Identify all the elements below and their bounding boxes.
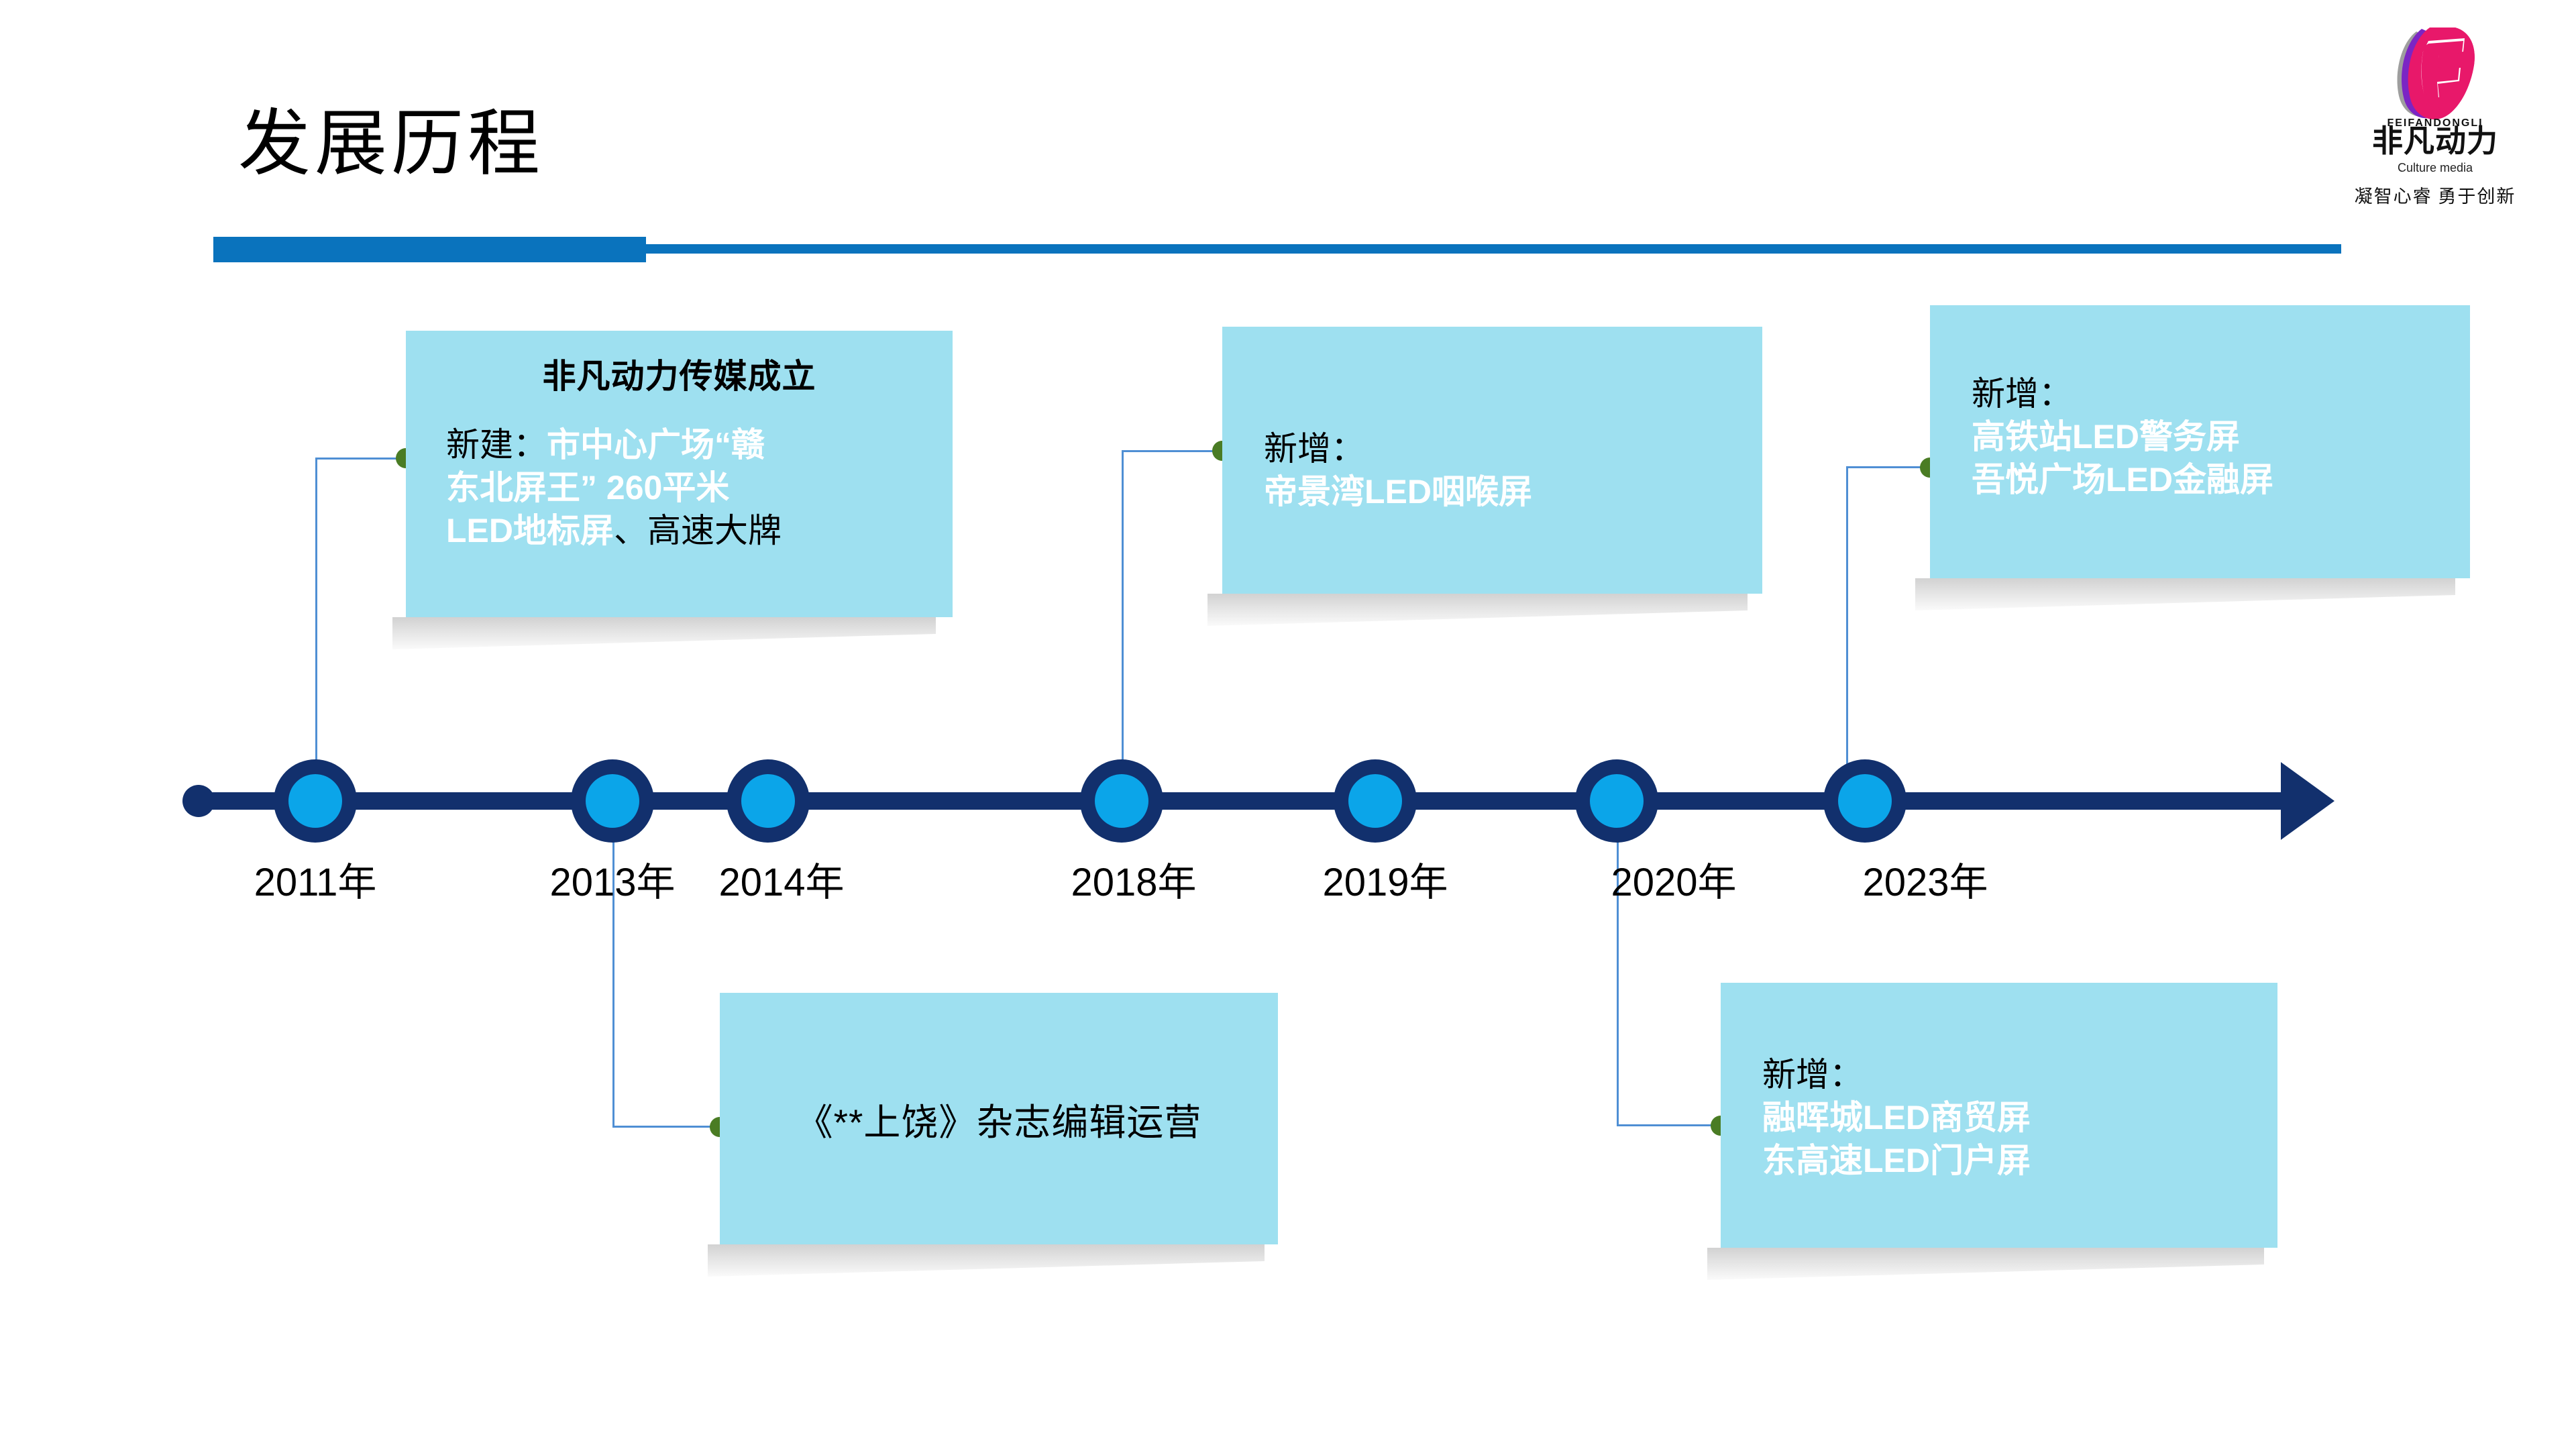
connector-2018-vertical [1122,450,1124,767]
card-2011-tail: 、高速大牌 [614,512,782,549]
timeline-node-2011[interactable] [274,759,357,843]
timeline-node-2013[interactable] [571,759,654,843]
node-inner-2014 [741,774,795,828]
node-inner-2018 [1095,774,1148,828]
year-label-2014: 2014年 [718,851,844,907]
year-label-2023: 2023年 [1862,851,1988,907]
year-label-2019: 2019年 [1322,851,1448,907]
connector-2018-horizontal [1122,450,1222,452]
connector-2011-vertical [315,458,317,766]
card-shadow-2011 [392,617,936,649]
card-2011-hl1: 市中心广场“赣 [547,426,765,464]
card-2023-lead: 新增： [1972,375,2072,413]
company-logo: FEIFANDONGLI 非凡动力 Culture media 凝智心睿 勇于创… [2341,23,2529,225]
card-2011-title: 非凡动力传媒成立 [406,356,953,396]
title-underline-thick [213,237,646,262]
card-2018-body: 新增： 帝景湾LED咽喉屏 [1264,427,1762,513]
connector-2023-vertical [1846,466,1848,767]
page-title: 发展历程 [238,104,544,184]
logo-subtitle: Culture media [2341,161,2529,175]
card-2018[interactable]: 新增： 帝景湾LED咽喉屏 [1222,327,1762,594]
card-2018-lead: 新增： [1264,430,1364,468]
card-2011[interactable]: 非凡动力传媒成立 新建：市中心广场“赣 东北屏王” 260平米 LED地标屏、高… [406,331,953,617]
connector-2013-horizontal [612,1126,720,1128]
card-2020-body: 新增： 融晖城LED商贸屏 东高速LED门户屏 [1762,1053,2277,1182]
card-2011-body: 新建：市中心广场“赣 东北屏王” 260平米 LED地标屏、高速大牌 [446,423,953,552]
card-2018-hl1: 帝景湾LED咽喉屏 [1264,473,1532,511]
card-2013[interactable]: 《**上饶》杂志编辑运营 [720,993,1278,1244]
logo-cn-text: 非凡动力 [2341,125,2529,156]
card-shadow-2013 [708,1244,1265,1277]
card-2023-hl2: 吾悦广场LED金融屏 [1972,461,2273,498]
card-shadow-2018 [1207,594,1748,626]
node-inner-2020 [1590,774,1644,828]
node-inner-2019 [1348,774,1402,828]
card-2013-text: 《**上饶》杂志编辑运营 [796,1092,1202,1146]
connector-2023-horizontal [1846,466,1930,468]
year-label-2013: 2013年 [549,851,675,907]
slide-canvas: 发展历程 FEIFANDONGLI 非凡动力 Culture media 凝智心… [0,0,2576,1449]
card-shadow-2020 [1707,1248,2264,1280]
card-2020-hl1: 融晖城LED商贸屏 [1762,1099,2031,1136]
card-2011-lead: 新建： [446,426,547,464]
timeline-arrow-head [2281,762,2334,840]
card-2011-hl3: LED地标屏 [446,512,614,549]
timeline-node-2019[interactable] [1334,759,1417,843]
timeline-node-2023[interactable] [1823,759,1907,843]
timeline-node-2018[interactable] [1080,759,1163,843]
card-2023[interactable]: 新增： 高铁站LED警务屏 吾悦广场LED金融屏 [1930,305,2470,578]
card-2020-lead: 新增： [1762,1056,1863,1093]
year-label-2011: 2011年 [254,851,377,907]
year-label-2018: 2018年 [1071,851,1196,907]
connector-2020-horizontal [1617,1124,1721,1126]
title-underline-thin [644,244,2341,254]
card-shadow-2023 [1915,578,2455,610]
timeline-axis-line [190,792,2300,810]
node-inner-2023 [1838,774,1892,828]
logo-slogan: 凝智心睿 勇于创新 [2341,182,2529,208]
timeline-node-2014[interactable] [727,759,810,843]
f-triangle-icon [2381,23,2489,124]
timeline-node-2020[interactable] [1575,759,1658,843]
card-2011-hl2: 东北屏王” 260平米 [446,469,729,506]
card-2020[interactable]: 新增： 融晖城LED商贸屏 东高速LED门户屏 [1721,983,2277,1248]
card-2023-body: 新增： 高铁站LED警务屏 吾悦广场LED金融屏 [1972,372,2470,501]
connector-2011-horizontal [315,458,406,460]
card-2020-hl2: 东高速LED门户屏 [1762,1142,2031,1179]
card-2023-hl1: 高铁站LED警务屏 [1972,418,2240,455]
node-inner-2013 [586,774,639,828]
year-label-2020: 2020年 [1611,851,1736,907]
node-inner-2011 [288,774,342,828]
